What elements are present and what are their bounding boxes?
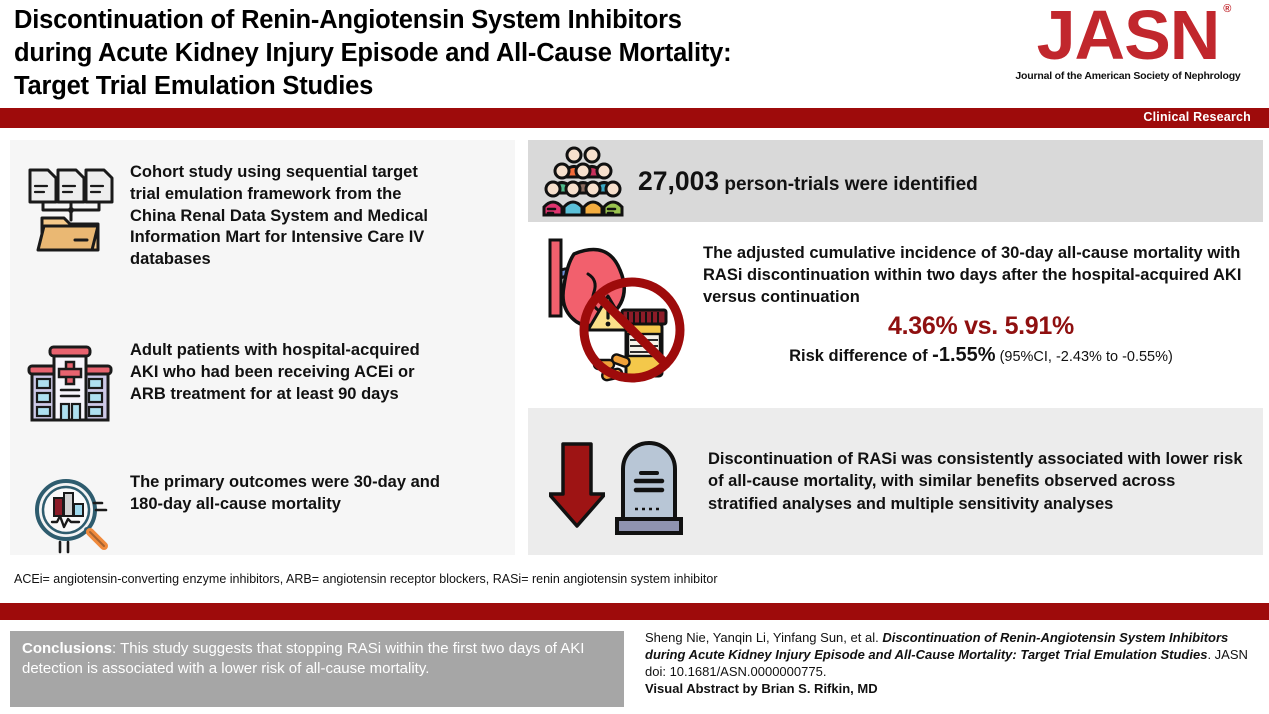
clinical-research-label: Clinical Research <box>1143 110 1251 124</box>
results-body: The adjusted cumulative incidence of 30-… <box>703 230 1259 367</box>
risk-difference-value: -1.55% <box>932 344 995 366</box>
magnifier-chart-icon <box>10 470 130 562</box>
jasn-logo: JASN ® Journal of the American Society o… <box>997 2 1259 82</box>
results-box: The adjusted cumulative incidence of 30-… <box>528 230 1263 398</box>
visual-abstract-page: Discontinuation of Renin-Angiotensin Sys… <box>0 0 1269 714</box>
kidney-no-pills-icon <box>528 230 703 386</box>
risk-difference: Risk difference of -1.55% (95%CI, -2.43%… <box>703 344 1259 367</box>
person-trials-label: person-trials were identified <box>724 174 977 195</box>
citation-visual-abstract: Visual Abstract by Brian S. Rifkin, MD <box>645 681 1265 698</box>
risk-difference-prefix: Risk difference of <box>789 347 932 365</box>
study-conclusion-box: Discontinuation of RASi was consistently… <box>528 408 1263 555</box>
person-trials-count: 27,003 <box>638 166 719 196</box>
study-conclusion-text: Discontinuation of RASi was consistently… <box>708 448 1248 514</box>
population-count-box: 27,003 person-trials were identified <box>528 140 1263 222</box>
methods-item-cohort: Cohort study using sequential target tri… <box>10 160 450 271</box>
tombstone-icon <box>611 429 687 535</box>
conclusions-box: Conclusions: This study suggests that st… <box>10 631 624 707</box>
clinical-research-banner: Clinical Research <box>0 108 1269 128</box>
methods-item-population-text: Adult patients with hospital-acquired AK… <box>130 338 450 405</box>
down-arrow-icon <box>549 432 605 532</box>
abbreviations-footnote: ACEi= angiotensin-converting enzyme inhi… <box>14 572 1014 586</box>
citation-block: Sheng Nie, Yanqin Li, Yinfang Sun, et al… <box>645 630 1265 698</box>
conclusion-icons <box>528 429 708 535</box>
header: Discontinuation of Renin-Angiotensin Sys… <box>0 0 1269 108</box>
hospital-building-icon <box>10 338 130 430</box>
title-line-2: during Acute Kidney Injury Episode and A… <box>14 37 914 70</box>
population-headline: 27,003 person-trials were identified <box>638 166 978 197</box>
methods-item-population: Adult patients with hospital-acquired AK… <box>10 338 450 430</box>
methods-item-outcomes-text: The primary outcomes were 30-day and 180… <box>130 470 450 516</box>
jasn-wordmark: JASN ® <box>1037 2 1220 69</box>
results-lead-text: The adjusted cumulative incidence of 30-… <box>703 242 1259 308</box>
registered-trademark-icon: ® <box>1223 4 1231 14</box>
title-line-1: Discontinuation of Renin-Angiotensin Sys… <box>14 4 914 37</box>
conclusions-label: Conclusions <box>22 640 112 657</box>
page-title: Discontinuation of Renin-Angiotensin Sys… <box>14 4 914 103</box>
results-comparison: 4.36% vs. 5.91% <box>703 312 1259 341</box>
citation-authors: Sheng Nie, Yanqin Li, Yinfang Sun, et al… <box>645 630 882 645</box>
methods-item-cohort-text: Cohort study using sequential target tri… <box>130 160 450 271</box>
risk-difference-ci: (95%CI, -2.43% to -0.55%) <box>996 349 1173 365</box>
jasn-wordmark-text: JASN <box>1037 0 1220 74</box>
documents-folder-icon <box>10 160 130 255</box>
bottom-red-banner <box>0 603 1269 620</box>
methods-panel: Cohort study using sequential target tri… <box>10 140 515 555</box>
methods-item-outcomes: The primary outcomes were 30-day and 180… <box>10 470 450 562</box>
people-group-icon <box>528 145 638 217</box>
title-line-3: Target Trial Emulation Studies <box>14 70 914 103</box>
